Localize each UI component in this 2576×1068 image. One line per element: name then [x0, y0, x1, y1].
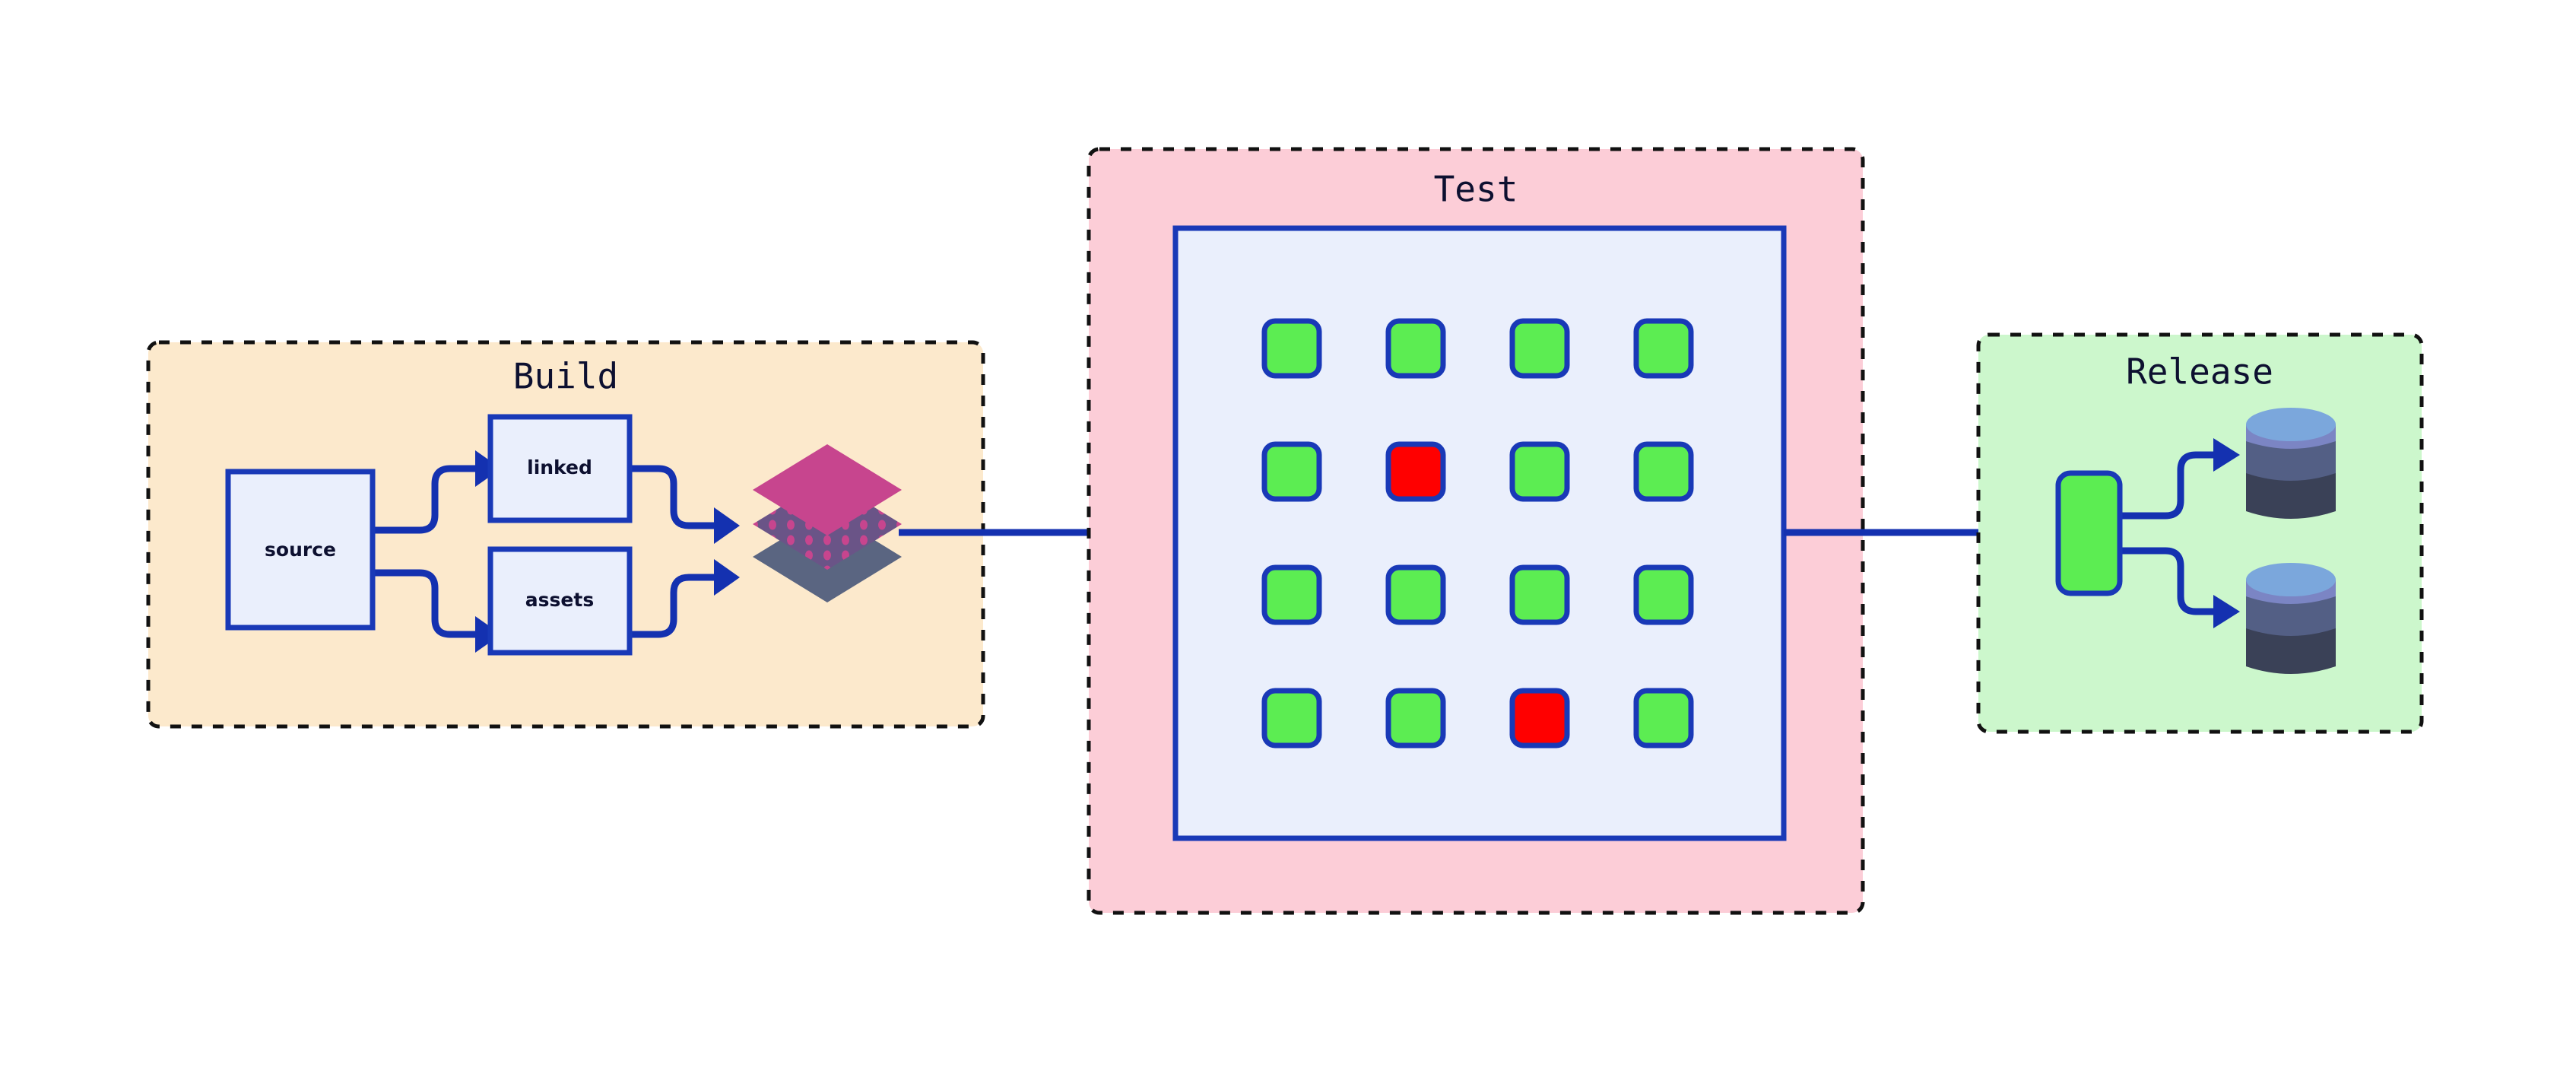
test-cell-r2c3[interactable] — [1512, 444, 1567, 499]
group-test-title: Test — [1434, 169, 1518, 210]
group-release[interactable]: Release — [1978, 335, 2422, 732]
test-cell-r4c1[interactable] — [1264, 691, 1319, 745]
node-linked[interactable]: linked — [490, 417, 630, 520]
test-cell-r3c4[interactable] — [1636, 567, 1691, 622]
node-source-label: source — [265, 539, 336, 561]
node-assets[interactable]: assets — [490, 549, 630, 653]
test-cell-r2c4[interactable] — [1636, 444, 1691, 499]
node-linked-label: linked — [527, 456, 592, 478]
test-cell-r3c3[interactable] — [1512, 567, 1567, 622]
diagram-canvas: Build source linked — [0, 0, 2576, 1068]
pipeline-diagram: Build source linked — [0, 0, 2576, 1068]
node-database-primary[interactable] — [2246, 408, 2336, 519]
test-cell-r4c4[interactable] — [1636, 691, 1691, 745]
node-release-gate[interactable] — [2058, 473, 2120, 593]
node-assets-label: assets — [525, 589, 594, 611]
group-build-title: Build — [513, 356, 618, 397]
test-cell-r2c2[interactable] — [1388, 444, 1443, 499]
test-cell-r1c4[interactable] — [1636, 321, 1691, 376]
group-release-title: Release — [2126, 351, 2273, 393]
test-cell-r3c2[interactable] — [1388, 567, 1443, 622]
test-matrix-panel — [1175, 228, 1784, 838]
database-replica-top — [2246, 563, 2336, 596]
database-primary-top — [2246, 408, 2336, 441]
group-release-boundary — [1978, 335, 2422, 732]
group-test[interactable]: Test — [1089, 149, 1863, 913]
test-cell-r1c2[interactable] — [1388, 321, 1443, 376]
node-database-replica[interactable] — [2246, 563, 2336, 674]
test-cell-r1c3[interactable] — [1512, 321, 1567, 376]
test-cell-r3c1[interactable] — [1264, 567, 1319, 622]
test-cell-r1c1[interactable] — [1264, 321, 1319, 376]
node-source[interactable]: source — [228, 472, 373, 628]
test-cell-r4c3[interactable] — [1512, 691, 1567, 745]
group-build[interactable]: Build source linked — [148, 342, 983, 726]
test-cell-r2c1[interactable] — [1264, 444, 1319, 499]
test-cell-r4c2[interactable] — [1388, 691, 1443, 745]
